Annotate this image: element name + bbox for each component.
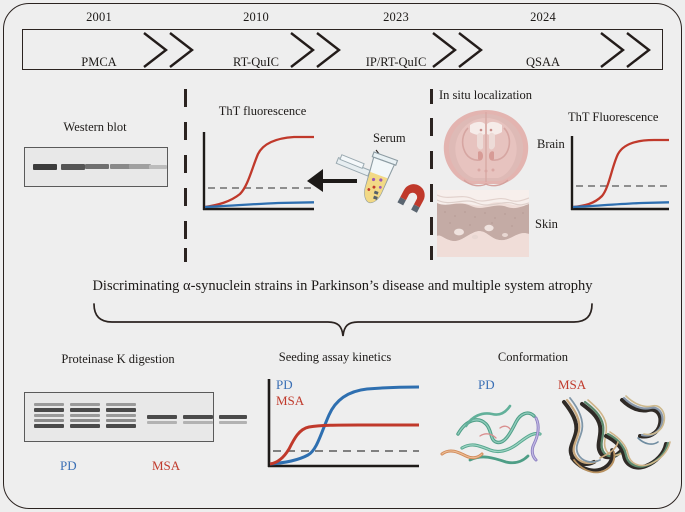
graphical-abstract-figure: 2001 2010 2023 2024 PMCA RT-QuIC IP/RT-Q…	[0, 0, 685, 512]
timeline-year-1: 2010	[196, 10, 316, 25]
msa-lane-1-band-1	[183, 421, 213, 424]
proteinase-title: Proteinase K digestion	[20, 352, 216, 367]
positive-curve	[205, 137, 314, 207]
divider-right-dash-4	[430, 217, 433, 235]
serum-tube-illustration	[324, 138, 430, 218]
western-blot-band-2	[85, 164, 109, 169]
proteinase-msa-label: MSA	[152, 458, 180, 474]
msa-lane-1-band-0	[183, 415, 213, 419]
pd-lane-0-band-2	[34, 414, 64, 417]
proteinase-gel	[24, 392, 214, 442]
timeline-step-qsaa[interactable]: QSAA	[483, 42, 603, 83]
brain-label: Brain	[537, 137, 565, 152]
pd-lane-2-band-1	[106, 408, 136, 412]
pd-lane-1-band-1	[70, 408, 100, 412]
timeline-year-0: 2001	[39, 10, 159, 25]
grouping-brace	[88, 302, 598, 340]
divider-right-dash-1	[430, 118, 433, 136]
chevron-separator-icon-2	[429, 31, 489, 69]
msa-conformation-structure	[552, 388, 674, 480]
kinetics-chart	[263, 377, 421, 472]
divider-left-dash-3	[184, 188, 187, 206]
western-blot-title: Western blot	[0, 120, 190, 135]
in-situ-title: In situ localization	[439, 88, 532, 103]
divider-right-dash-2	[430, 151, 433, 169]
msa-lane-2-band-1	[219, 421, 247, 424]
skin-section-image	[437, 190, 529, 257]
western-blot-band-0	[33, 164, 57, 170]
tht-left-chart	[198, 128, 316, 218]
brain-section-image	[440, 108, 532, 188]
western-blot-band-4	[129, 164, 151, 169]
divider-left-dash-4	[184, 221, 187, 239]
pd-conformation-structure	[440, 392, 558, 474]
western-blot-band-5	[149, 165, 167, 169]
pd-lane-0-band-4	[34, 424, 64, 428]
conformation-title: Conformation	[438, 350, 628, 365]
timeline-year-3: 2024	[483, 10, 603, 25]
pd-lane-0-band-0	[34, 403, 64, 406]
tht-left-title: ThT fluorescence	[195, 104, 330, 119]
chevron-separator-icon-3	[597, 31, 657, 69]
western-blot-band-1	[61, 164, 85, 170]
msa-lane-0-band-0	[147, 415, 177, 419]
pd-lane-1-band-0	[70, 403, 100, 406]
pd-lane-0-band-1	[34, 408, 64, 412]
conformation-pd-label: PD	[478, 377, 495, 393]
pd-lane-2-band-0	[106, 403, 136, 406]
divider-left-dash-5	[184, 248, 187, 262]
msa-lane-2-band-0	[219, 415, 247, 419]
chevron-separator-icon-0	[140, 31, 200, 69]
pd-lane-2-band-4	[106, 424, 136, 428]
pd-lane-1-band-3	[70, 419, 100, 422]
divider-right-dash-5	[430, 246, 433, 260]
timeline-year-2: 2023	[336, 10, 456, 25]
proteinase-pd-label: PD	[60, 458, 77, 474]
msa-curve	[270, 425, 419, 464]
kinetics-title: Seeding assay kinetics	[240, 350, 430, 365]
central-statement: Discriminating α-synuclein strains in Pa…	[0, 278, 685, 295]
chevron-separator-icon-1	[287, 31, 347, 69]
tht-right-title: ThT Fluorescence	[568, 110, 658, 125]
pd-lane-1-band-2	[70, 414, 100, 417]
skin-label: Skin	[535, 217, 558, 232]
pd-lane-2-band-3	[106, 419, 136, 422]
pd-lane-0-band-3	[34, 419, 64, 422]
divider-right-dash-0	[430, 89, 433, 104]
pd-lane-2-band-2	[106, 414, 136, 417]
tht-right-chart	[566, 132, 671, 216]
msa-lane-0-band-1	[147, 421, 177, 424]
pd-lane-1-band-4	[70, 424, 100, 428]
divider-right-dash-3	[430, 184, 433, 202]
divider-left-dash-0	[184, 89, 187, 107]
positive-curve	[573, 140, 669, 207]
divider-left-dash-2	[184, 155, 187, 173]
western-blot-gel	[24, 147, 168, 187]
